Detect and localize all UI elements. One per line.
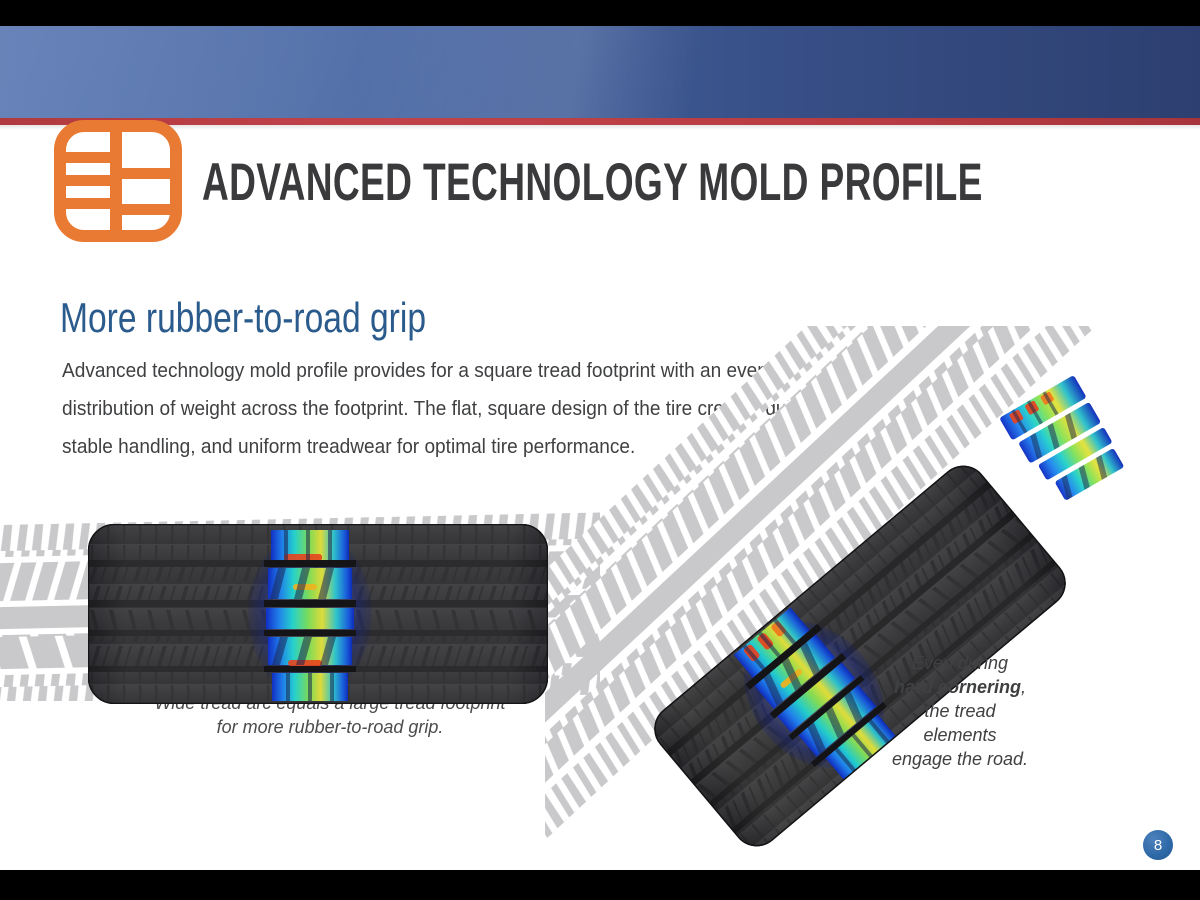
slide-canvas: ADVANCED TECHNOLOGY MOLD PROFILE More ru… (0, 0, 1200, 900)
letterbox-bar-top (0, 0, 1200, 26)
detached-footprint-heatmap (985, 364, 1175, 509)
caption-right-line-4: elements (923, 725, 996, 745)
caption-right: Even during hard cornering, the tread el… (855, 651, 1065, 771)
tire-footprint-straight-figure (88, 524, 548, 704)
caption-right-emphasis: hard cornering (894, 677, 1021, 697)
section-subhead: More rubber-to-road grip (60, 294, 426, 342)
slide-page: ADVANCED TECHNOLOGY MOLD PROFILE More ru… (0, 26, 1200, 870)
caption-right-comma: , (1021, 677, 1026, 697)
page-number-badge: 8 (1143, 830, 1173, 860)
header-band (0, 26, 1200, 118)
caption-right-line-1: Even during (912, 653, 1008, 673)
caption-right-line-3: the tread (924, 701, 995, 721)
page-title: ADVANCED TECHNOLOGY MOLD PROFILE (202, 154, 983, 212)
letterbox-bar-bottom (0, 870, 1200, 900)
tread-logo-icon (54, 120, 182, 242)
caption-right-line-5: engage the road. (892, 749, 1028, 769)
